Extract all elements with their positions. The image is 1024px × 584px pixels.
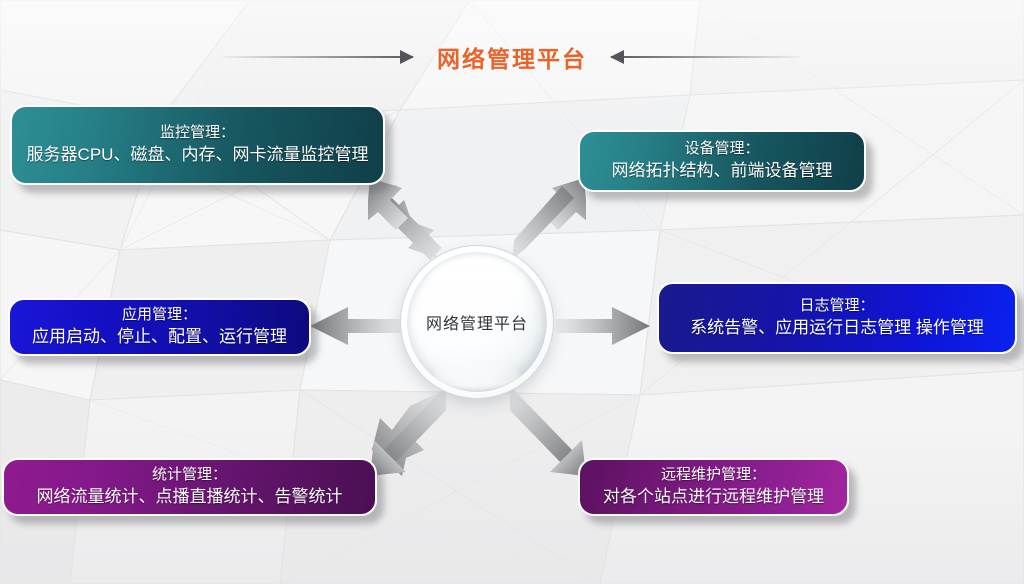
node-statistics-detail: 网络流量统计、点播直播统计、告警统计 <box>37 485 343 509</box>
node-remote-maintenance-management[interactable]: 远程维护管理： 对各个站点进行远程维护管理 <box>578 458 849 516</box>
node-log-management[interactable]: 日志管理： 系统告警、应用运行日志管理 操作管理 <box>657 282 1017 354</box>
node-monitor-heading: 监控管理： <box>160 123 235 143</box>
center-node-label: 网络管理平台 <box>426 310 528 334</box>
node-device-management[interactable]: 设备管理： 网络拓扑结构、前端设备管理 <box>578 130 866 192</box>
node-application-heading: 应用管理： <box>122 305 197 325</box>
center-node-platform[interactable]: 网络管理平台 <box>400 245 554 399</box>
node-monitor-management[interactable]: 监控管理： 服务器CPU、磁盘、内存、网卡流量监控管理 <box>10 105 385 185</box>
arrow-center-to-device <box>512 176 586 260</box>
arrow-center-to-remote <box>510 388 590 478</box>
arrow-center-to-stat <box>366 388 446 478</box>
arrow-center-to-app <box>308 304 404 348</box>
node-log-heading: 日志管理： <box>799 296 874 316</box>
node-application-detail: 应用启动、停止、配置、运行管理 <box>32 325 287 349</box>
node-application-management[interactable]: 应用管理： 应用启动、停止、配置、运行管理 <box>8 298 311 356</box>
page-title-text: 网络管理平台 <box>437 40 587 74</box>
node-statistics-management[interactable]: 统计管理： 网络流量统计、点播直播统计、告警统计 <box>2 458 377 516</box>
sphere-highlight-bottom <box>434 362 519 389</box>
node-device-heading: 设备管理： <box>684 139 759 159</box>
page-title: 网络管理平台 <box>0 40 1024 74</box>
node-statistics-heading: 统计管理： <box>152 465 227 485</box>
node-remote-detail: 对各个站点进行远程维护管理 <box>603 485 824 509</box>
arrow-center-to-log <box>556 304 652 348</box>
title-rule-right-icon <box>611 49 801 65</box>
node-remote-heading: 远程维护管理： <box>661 465 766 485</box>
diagram-canvas: 网络管理平台 <box>0 0 1024 584</box>
node-monitor-detail: 服务器CPU、磁盘、内存、网卡流量监控管理 <box>27 143 369 167</box>
sphere-highlight-top <box>427 257 527 318</box>
title-rule-left-icon <box>223 49 413 65</box>
node-device-detail: 网络拓扑结构、前端设备管理 <box>612 159 833 183</box>
arrow-center-to-monitor <box>368 176 442 260</box>
node-log-detail: 系统告警、应用运行日志管理 操作管理 <box>690 316 984 340</box>
